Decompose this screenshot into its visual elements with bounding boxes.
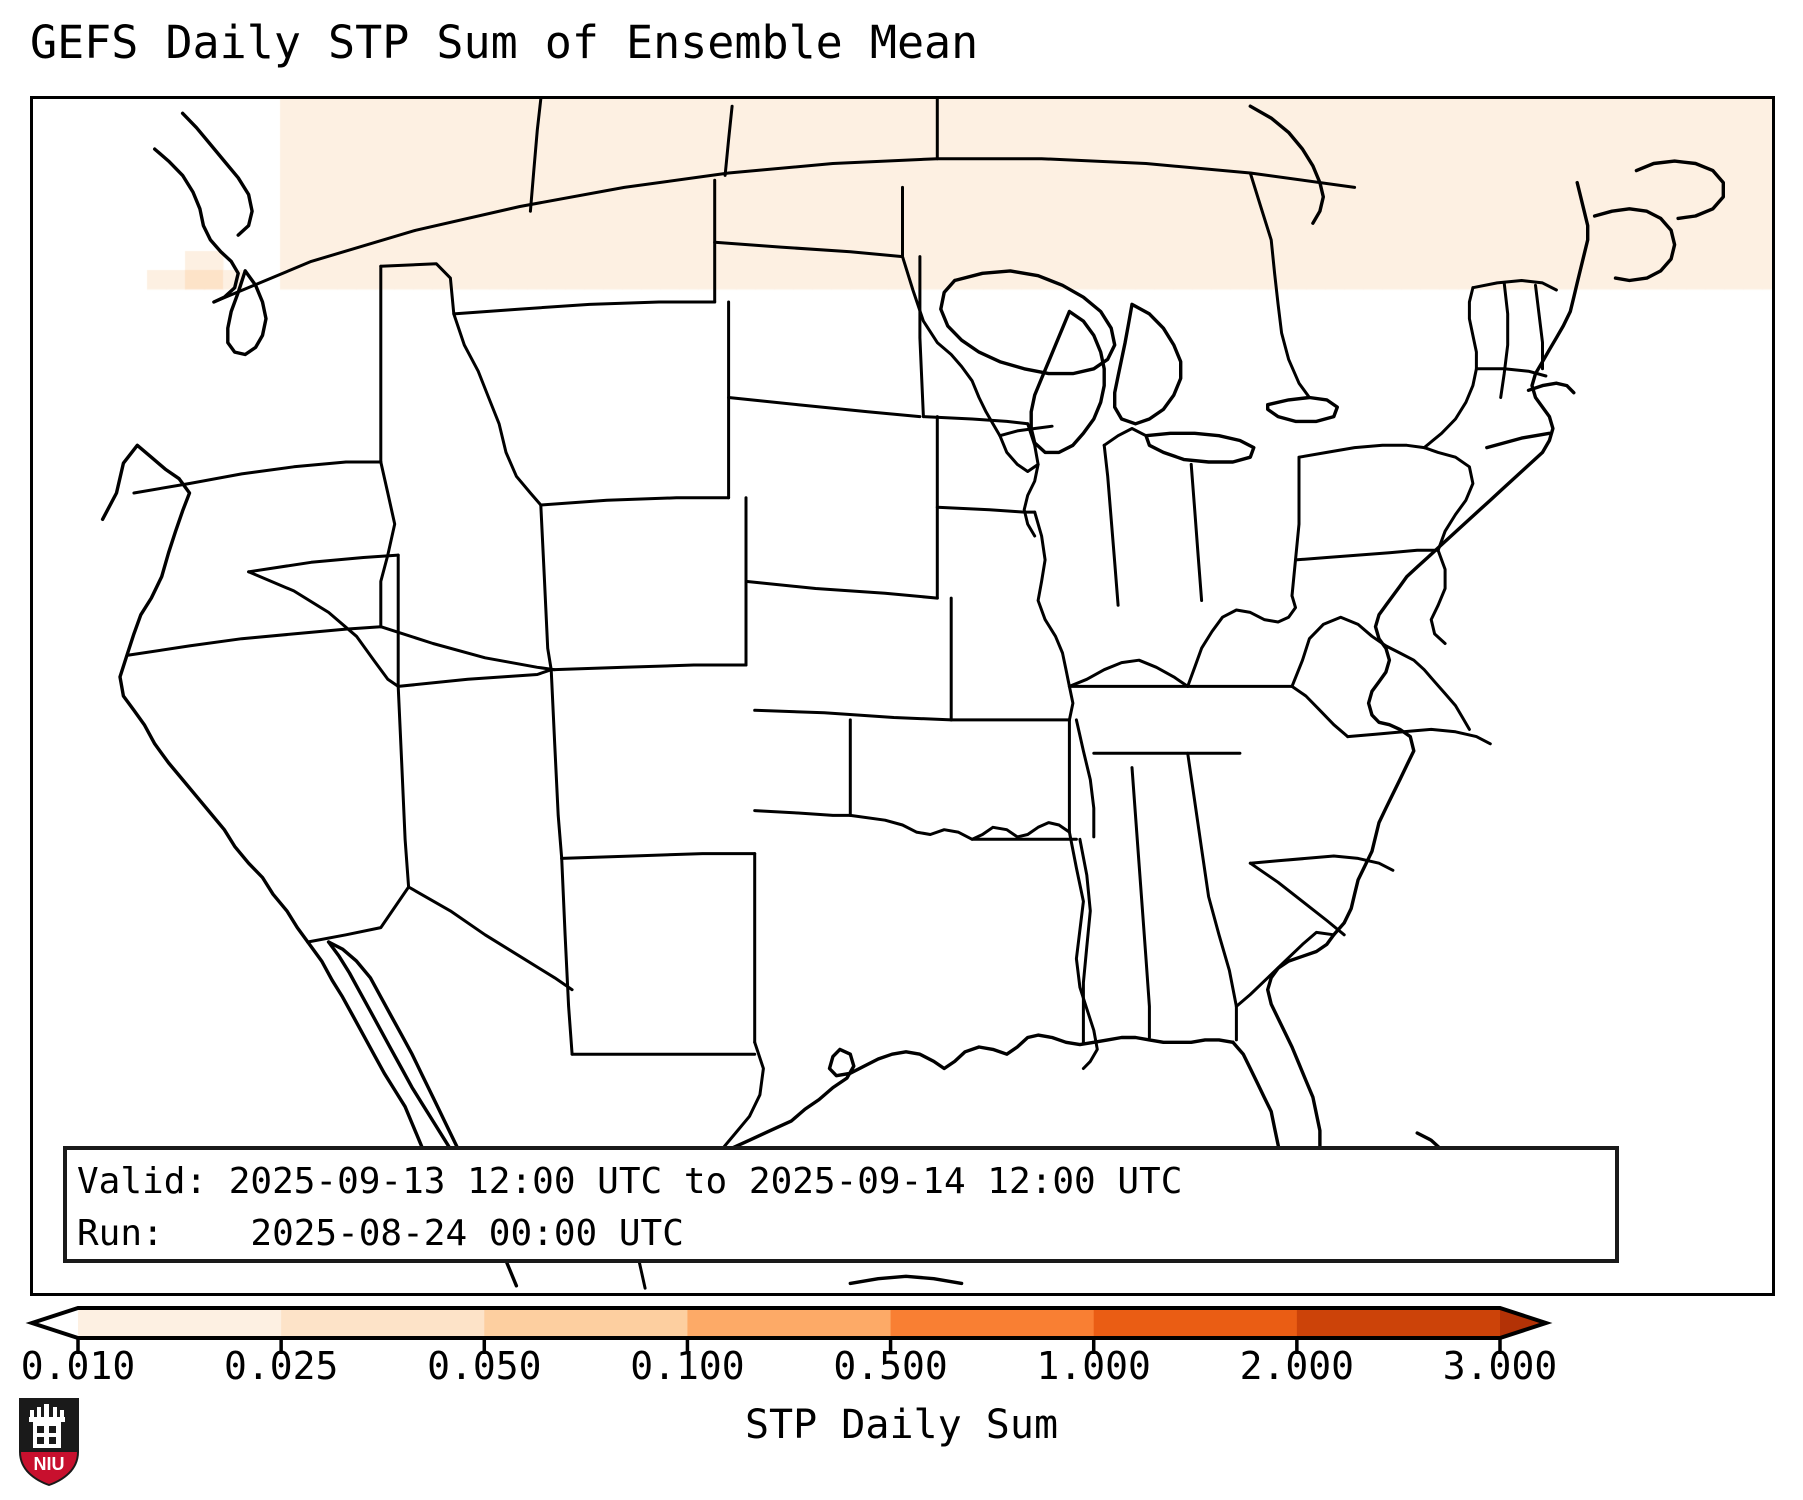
boundary-segment-76 [1250, 173, 1309, 398]
run-time-line: Run: 2025-08-24 00:00 UTC [77, 1208, 1615, 1260]
colorbar-band-1 [281, 1308, 485, 1338]
coastline-segment-14 [183, 113, 253, 235]
colorbar-tick-label-5: 1.000 [1037, 1344, 1151, 1388]
colorbar-axis-label: STP Daily Sum [0, 1402, 1803, 1448]
colorbar-tick-label-2: 0.050 [427, 1344, 541, 1388]
valid-run-info-box: Valid: 2025-09-13 12:00 UTC to 2025-09-1… [63, 1146, 1619, 1263]
coastline-segment-12 [1268, 398, 1338, 422]
boundary-segment-25 [308, 887, 409, 942]
boundary-segment-65 [1296, 550, 1439, 560]
boundary-segment-54 [1236, 932, 1333, 1006]
coastline-segment-11 [1146, 433, 1254, 462]
boundary-segment-71 [1424, 448, 1473, 551]
boundary-segment-48 [1076, 720, 1093, 837]
colorbar-tick-label-3: 0.100 [630, 1344, 744, 1388]
boundary-segment-11 [541, 505, 551, 670]
colorbar-extend-over [1500, 1308, 1546, 1338]
boundary-segment-58 [1292, 617, 1469, 729]
colorbar-tick-label-0: 0.010 [21, 1344, 135, 1388]
boundary-segment-78 [725, 106, 732, 175]
boundary-segment-12 [551, 665, 746, 670]
boundary-segment-69 [1536, 285, 1543, 369]
boundary-segment-55 [1250, 863, 1344, 935]
boundary-segment-43 [937, 507, 1034, 512]
boundary-segment-26 [715, 242, 903, 256]
boundary-segment-36 [850, 815, 1069, 839]
colorbar-band-5 [1094, 1308, 1298, 1338]
boundary-segment-41 [923, 417, 1027, 424]
boundary-segment-44 [1035, 512, 1073, 720]
coastline-segment-0 [103, 445, 308, 942]
coastline-segment-9 [1031, 312, 1104, 453]
coastline-segment-17 [1636, 161, 1723, 218]
boundary-segment-61 [1104, 445, 1118, 605]
boundary-segment-22 [249, 572, 399, 687]
boundary-segment-28 [729, 398, 920, 417]
colorbar-tick-labels: 0.0100.0250.0500.1000.5001.0002.0003.000 [0, 1344, 1803, 1394]
coastline-segment-4 [1233, 935, 1334, 1181]
boundary-segment-7 [454, 302, 715, 314]
boundary-segment-60 [1191, 464, 1201, 600]
boundary-segment-30 [746, 581, 937, 598]
coastline-segment-6 [1487, 433, 1550, 447]
boundary-segment-72 [1431, 550, 1445, 643]
colorbar-tick-label-4: 0.500 [833, 1344, 947, 1388]
coastline-segment-13 [155, 149, 239, 302]
colorbar-tick-label-1: 0.025 [224, 1344, 338, 1388]
boundary-segment-14 [551, 670, 562, 859]
boundary-segment-63 [1292, 457, 1299, 596]
boundary-segment-74 [1000, 426, 1052, 436]
boundary-segment-29 [920, 257, 924, 417]
colorbar[interactable]: 0.0100.0250.0500.1000.5001.0002.0003.000… [0, 1300, 1803, 1500]
coastline-paths [103, 106, 1724, 1286]
boundary-segment-9 [541, 498, 729, 505]
boundary-segment-20 [398, 686, 408, 887]
colorbar-band-4 [891, 1308, 1095, 1338]
boundary-segment-21 [409, 887, 572, 990]
boundary-segment-50 [1188, 753, 1237, 1040]
boundary-segment-62 [1069, 660, 1187, 686]
colorbar-band-2 [484, 1308, 688, 1338]
boundary-segment-15 [562, 854, 755, 859]
valid-time-line: Valid: 2025-09-13 12:00 UTC to 2025-09-1… [77, 1156, 1615, 1208]
boundary-segment-66 [1424, 288, 1476, 448]
boundary-segment-5 [381, 264, 541, 505]
map-boundaries-layer [33, 99, 1772, 1293]
colorbar-band-6 [1297, 1308, 1501, 1338]
figure-root: GEFS Daily STP Sum of Ensemble Mean Vali… [0, 0, 1803, 1500]
boundary-segment-6 [381, 627, 555, 670]
boundary-segment-59 [1188, 596, 1296, 687]
colorbar-band-3 [687, 1308, 891, 1338]
boundary-segment-53 [1292, 686, 1348, 736]
colorbar-extend-under [32, 1308, 78, 1338]
boundary-segment-68 [1501, 283, 1508, 398]
colorbar-band-0 [78, 1308, 282, 1338]
niu-logo[interactable]: NIU [16, 1396, 82, 1488]
boundary-segment-67 [1473, 281, 1557, 291]
page-title: GEFS Daily STP Sum of Ensemble Mean [30, 16, 978, 69]
niu-wordmark: NIU [34, 1454, 65, 1474]
coastline-segment-10 [1115, 304, 1181, 423]
map-panel[interactable] [30, 96, 1775, 1296]
boundary-segment-32 [755, 710, 952, 720]
boundary-segment-19 [398, 670, 551, 687]
boundary-segment-73 [1104, 429, 1146, 446]
colorbar-tick-label-7: 3.000 [1443, 1344, 1557, 1388]
state-boundary-paths [127, 99, 1557, 1288]
boundary-segment-4 [381, 462, 395, 627]
boundary-segment-64 [1299, 445, 1424, 457]
boundary-segment-1 [134, 462, 381, 493]
boundary-segment-57 [1348, 729, 1491, 743]
boundary-segment-77 [530, 99, 540, 211]
coastline-segment-21 [850, 1276, 961, 1283]
boundary-segment-17 [562, 858, 572, 1054]
coastline-segment-5 [1334, 183, 1588, 935]
colorbar-tick-label-6: 2.000 [1240, 1344, 1354, 1388]
boundary-segment-23 [249, 555, 399, 572]
boundary-segment-3 [127, 627, 381, 656]
boundary-segment-34 [755, 811, 851, 816]
colorbar-band-group [32, 1308, 1546, 1338]
boundary-segment-49 [1132, 768, 1149, 1038]
coastline-segment-8 [941, 271, 1115, 374]
boundary-segment-0 [214, 159, 1355, 302]
coastline-segment-16 [1595, 209, 1675, 281]
boundary-segment-56 [1250, 856, 1393, 870]
